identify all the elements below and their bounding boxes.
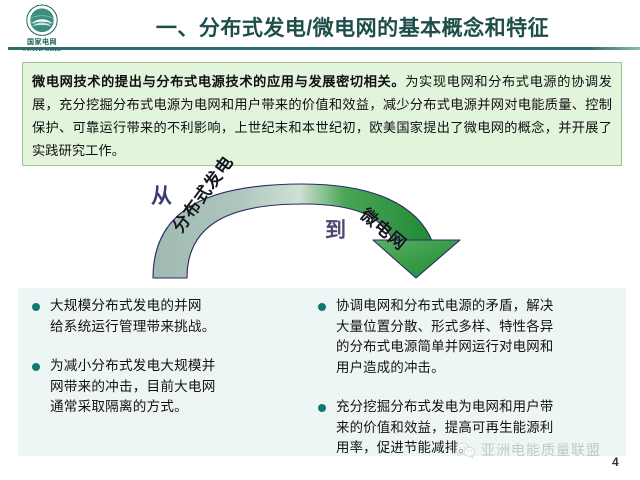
page-title: 一、分布式发电/微电网的基本概念和特征 [80,12,625,42]
transition-arrow-diagram: 从 到 分布式发电 微电网 [135,178,525,286]
bullet-column-left: 大规模分布式发电的并网给系统运行管理带来挑战。 为减小分布式发电大规模并网带来的… [32,296,318,437]
to-label: 到 [325,214,346,244]
list-item: 为减小分布式发电大规模并网带来的冲击，目前大电网通常采取隔离的方式。 [32,356,318,418]
header-divider [8,47,640,50]
watermark: 亚洲电能质量联盟 [455,440,601,460]
slide-header: 国家电网 STATE GRID 一、分布式发电/微电网的基本概念和特征 [0,0,640,52]
bullet-dot-icon [318,404,326,412]
bullet-text: 为减小分布式发电大规模并网带来的冲击，目前大电网通常采取隔离的方式。 [50,356,216,418]
bullet-text: 大规模分布式发电的并网给系统运行管理带来挑战。 [50,296,216,337]
watermark-text: 亚洲电能质量联盟 [481,440,601,460]
list-item: 协调电网和分布式电源的矛盾，解决大量位置分散、形式多样、特性各异的分布式电源简单… [318,296,604,378]
bullet-text: 协调电网和分布式电源的矛盾，解决大量位置分散、形式多样、特性各异的分布式电源简单… [336,296,553,378]
list-item: 大规模分布式发电的并网给系统运行管理带来挑战。 [32,296,318,337]
intro-lead-sentence: 微电网技术的提出与分布式电源技术的应用与发展密切相关。 [32,74,405,89]
bullet-dot-icon [318,303,326,311]
slide-canvas: 国家电网 STATE GRID 一、分布式发电/微电网的基本概念和特征 微电网技… [0,0,640,480]
logo-name-cn: 国家电网 [14,39,70,47]
state-grid-emblem-icon [23,2,61,40]
intro-callout-box: 微电网技术的提出与分布式电源技术的应用与发展密切相关。为实现电网和分布式电源的协… [22,62,622,166]
state-grid-logo: 国家电网 STATE GRID [14,2,70,52]
intro-paragraph: 微电网技术的提出与分布式电源技术的应用与发展密切相关。为实现电网和分布式电源的协… [32,70,612,162]
bullet-dot-icon [32,303,40,311]
page-number: 4 [612,455,619,469]
from-label: 从 [151,180,172,210]
bullet-panel: 大规模分布式发电的并网给系统运行管理带来挑战。 为减小分布式发电大规模并网带来的… [18,288,626,456]
wechat-icon [455,442,476,459]
bullet-dot-icon [32,363,40,371]
